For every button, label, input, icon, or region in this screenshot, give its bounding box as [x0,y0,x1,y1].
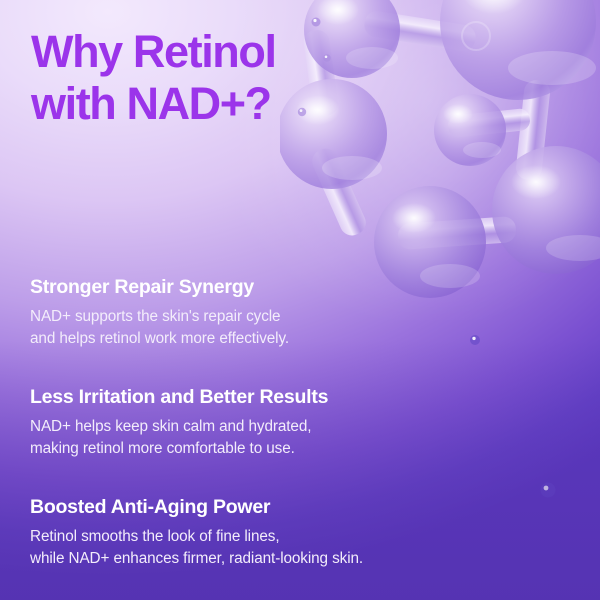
benefit-title: Boosted Anti-Aging Power [30,496,460,519]
page-title: Why Retinol with NAD+? [31,26,276,130]
molecule-bonds [302,9,551,250]
benefit-description: Retinol smooths the look of fine lines, … [30,526,460,569]
benefit-description: NAD+ helps keep skin calm and hydrated, … [30,416,460,459]
benefit-title: Stronger Repair Synergy [30,276,460,299]
benefit-description: NAD+ supports the skin's repair cycle an… [30,306,460,349]
top-right-glow [240,0,600,320]
benefit-title: Less Irritation and Better Results [30,386,460,409]
benefits-list: Stronger Repair Synergy NAD+ supports th… [30,276,460,569]
benefit-item-1: Stronger Repair Synergy NAD+ supports th… [30,276,460,350]
molecule-bubbles-artwork [280,0,600,310]
benefit-item-3: Boosted Anti-Aging Power Retinol smooths… [30,496,460,570]
molecule-spheres [280,0,600,298]
poster-canvas: Why Retinol with NAD+? Stronger Repair S… [0,0,600,600]
benefit-item-2: Less Irritation and Better Results NAD+ … [30,386,460,460]
